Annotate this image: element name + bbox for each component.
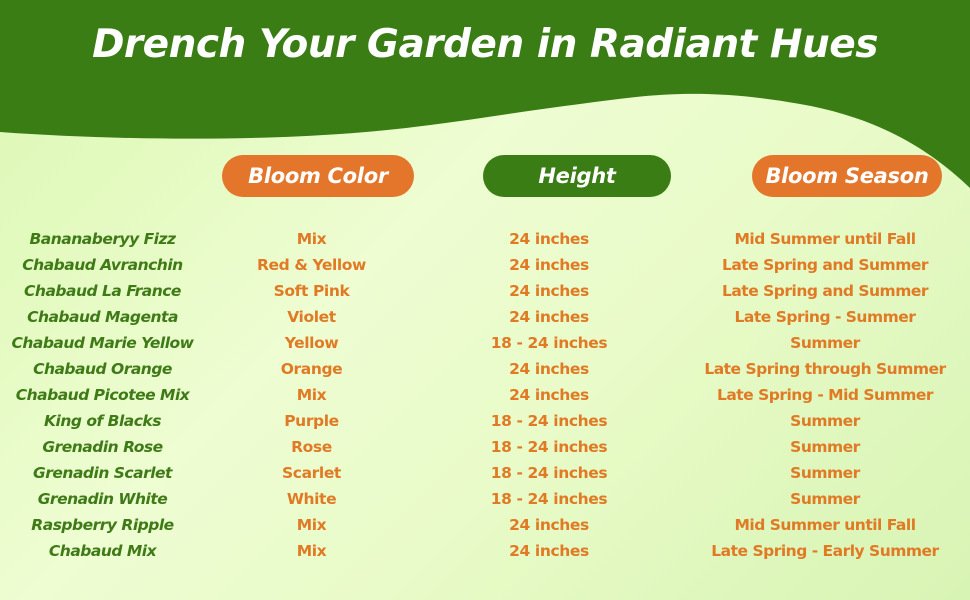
cell-variety: Chabaud Magenta (0, 308, 205, 326)
cell-bloom-season: Summer (680, 438, 970, 456)
cell-height: 24 inches (418, 230, 680, 248)
page-title: Drench Your Garden in Radiant Hues (0, 22, 970, 67)
column-header-height: Height (483, 155, 671, 197)
cell-bloom-color: Rose (205, 438, 418, 456)
table-row: Chabaud MagentaViolet24 inchesLate Sprin… (0, 304, 970, 330)
cell-height: 24 inches (418, 516, 680, 534)
cell-variety: Chabaud Picotee Mix (0, 386, 205, 404)
cell-variety: Grenadin Scarlet (0, 464, 205, 482)
cell-height: 24 inches (418, 542, 680, 560)
cell-bloom-color: White (205, 490, 418, 508)
cell-bloom-season: Late Spring - Summer (680, 308, 970, 326)
cell-height: 24 inches (418, 282, 680, 300)
table-row: Grenadin RoseRose18 - 24 inchesSummer (0, 434, 970, 460)
table-row: Chabaud La FranceSoft Pink24 inchesLate … (0, 278, 970, 304)
cell-bloom-season: Late Spring and Summer (680, 282, 970, 300)
cell-height: 18 - 24 inches (418, 412, 680, 430)
cell-bloom-color: Yellow (205, 334, 418, 352)
column-header-bloom-color: Bloom Color (222, 155, 414, 197)
cell-bloom-color: Red & Yellow (205, 256, 418, 274)
cell-bloom-color: Orange (205, 360, 418, 378)
table-row: Chabaud Picotee MixMix24 inchesLate Spri… (0, 382, 970, 408)
cell-height: 24 inches (418, 308, 680, 326)
cell-variety: Chabaud La France (0, 282, 205, 300)
cell-bloom-color: Mix (205, 230, 418, 248)
cell-variety: Chabaud Mix (0, 542, 205, 560)
cell-bloom-season: Late Spring - Early Summer (680, 542, 970, 560)
cell-variety: King of Blacks (0, 412, 205, 430)
cell-bloom-season: Summer (680, 412, 970, 430)
cell-height: 24 inches (418, 256, 680, 274)
cell-bloom-color: Purple (205, 412, 418, 430)
table-row: Chabaud Marie YellowYellow18 - 24 inches… (0, 330, 970, 356)
cell-bloom-season: Mid Summer until Fall (680, 230, 970, 248)
column-header-bloom-season-label: Bloom Season (765, 164, 928, 188)
column-header-bloom-season: Bloom Season (752, 155, 942, 197)
variety-table: Bananaberyy FizzMix24 inchesMid Summer u… (0, 226, 970, 564)
cell-height: 18 - 24 inches (418, 490, 680, 508)
cell-variety: Grenadin White (0, 490, 205, 508)
cell-bloom-color: Violet (205, 308, 418, 326)
cell-variety: Grenadin Rose (0, 438, 205, 456)
table-row: King of BlacksPurple18 - 24 inchesSummer (0, 408, 970, 434)
cell-variety: Bananaberyy Fizz (0, 230, 205, 248)
cell-bloom-color: Mix (205, 516, 418, 534)
cell-height: 18 - 24 inches (418, 464, 680, 482)
cell-bloom-season: Summer (680, 334, 970, 352)
cell-bloom-season: Late Spring and Summer (680, 256, 970, 274)
table-row: Chabaud MixMix24 inchesLate Spring - Ear… (0, 538, 970, 564)
cell-variety: Raspberry Ripple (0, 516, 205, 534)
cell-bloom-color: Mix (205, 386, 418, 404)
cell-variety: Chabaud Orange (0, 360, 205, 378)
cell-bloom-season: Mid Summer until Fall (680, 516, 970, 534)
cell-height: 18 - 24 inches (418, 334, 680, 352)
column-header-bloom-color-label: Bloom Color (248, 164, 388, 188)
table-row: Raspberry RippleMix24 inchesMid Summer u… (0, 512, 970, 538)
cell-bloom-season: Summer (680, 490, 970, 508)
table-row: Grenadin WhiteWhite18 - 24 inchesSummer (0, 486, 970, 512)
cell-bloom-color: Scarlet (205, 464, 418, 482)
column-header-height-label: Height (538, 164, 615, 188)
cell-bloom-color: Mix (205, 542, 418, 560)
table-row: Bananaberyy FizzMix24 inchesMid Summer u… (0, 226, 970, 252)
cell-bloom-season: Late Spring - Mid Summer (680, 386, 970, 404)
table-row: Chabaud OrangeOrange24 inchesLate Spring… (0, 356, 970, 382)
cell-bloom-season: Late Spring through Summer (680, 360, 970, 378)
cell-bloom-color: Soft Pink (205, 282, 418, 300)
cell-variety: Chabaud Avranchin (0, 256, 205, 274)
cell-variety: Chabaud Marie Yellow (0, 334, 205, 352)
table-row: Chabaud AvranchinRed & Yellow24 inchesLa… (0, 252, 970, 278)
table-row: Grenadin ScarletScarlet18 - 24 inchesSum… (0, 460, 970, 486)
cell-height: 24 inches (418, 360, 680, 378)
cell-height: 18 - 24 inches (418, 438, 680, 456)
infographic-poster: Drench Your Garden in Radiant Hues Bloom… (0, 0, 970, 600)
cell-height: 24 inches (418, 386, 680, 404)
cell-bloom-season: Summer (680, 464, 970, 482)
